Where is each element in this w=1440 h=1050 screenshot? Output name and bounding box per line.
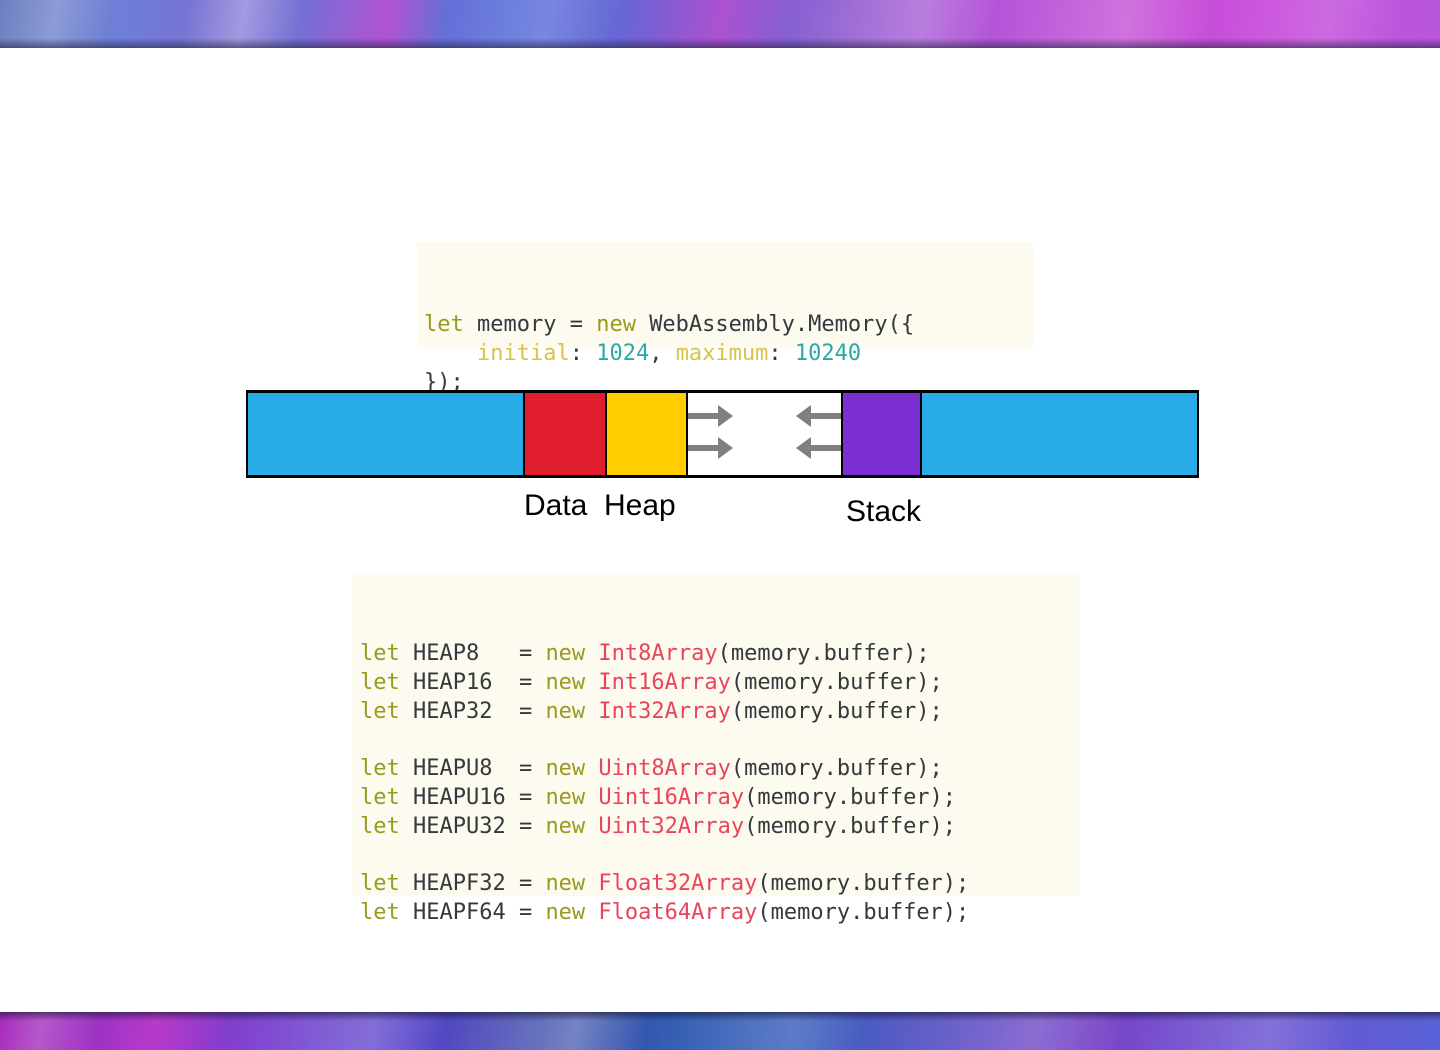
memory-segment-unused-right bbox=[922, 393, 1199, 475]
memory-segment-data bbox=[525, 393, 607, 475]
code-line: let HEAPU32 = new Uint32Array(memory.buf… bbox=[360, 813, 1080, 842]
code-token: HEAP8 = bbox=[413, 641, 545, 666]
memory-label-data: Data bbox=[524, 489, 587, 523]
code-token: initial bbox=[477, 341, 570, 366]
code-line: let HEAP8 = new Int8Array(memory.buffer)… bbox=[360, 640, 1080, 669]
code-token: 1024 bbox=[596, 341, 649, 366]
code-token: Uint16Array bbox=[598, 785, 744, 810]
code-line: let HEAPF32 = new Float32Array(memory.bu… bbox=[360, 870, 1080, 899]
code-token: let bbox=[360, 785, 413, 810]
memory-label-stack: Stack bbox=[846, 495, 921, 529]
code-token: new bbox=[545, 900, 598, 925]
code-token: (memory.buffer); bbox=[757, 900, 969, 925]
memory-segment-heap bbox=[607, 393, 688, 475]
code-token: : bbox=[768, 341, 795, 366]
code-token: (memory.buffer); bbox=[718, 641, 930, 666]
code-token: new bbox=[545, 814, 598, 839]
code-token: (memory.buffer); bbox=[744, 814, 956, 839]
code-token: new bbox=[545, 670, 598, 695]
code-token: new bbox=[545, 699, 598, 724]
memory-segment-unused-left bbox=[246, 393, 525, 475]
code-token: let bbox=[360, 814, 413, 839]
code-block-memory-declaration: let memory = new WebAssembly.Memory({ in… bbox=[417, 242, 1033, 348]
code-line bbox=[360, 727, 1080, 756]
code-token: let bbox=[424, 312, 477, 337]
code-token: memory = bbox=[477, 312, 596, 337]
code-token: let bbox=[360, 871, 413, 896]
code-token: HEAPU8 = bbox=[413, 756, 545, 781]
stack-grow-arrow-shaft-2 bbox=[807, 445, 841, 451]
code-token: maximum bbox=[676, 341, 769, 366]
stack-grow-arrow-shaft-1 bbox=[807, 413, 841, 419]
memory-segment-free-space bbox=[688, 393, 841, 475]
code-token: let bbox=[360, 900, 413, 925]
code-token: HEAPU16 = bbox=[413, 785, 545, 810]
code-token: Int8Array bbox=[598, 641, 717, 666]
code-token: (memory.buffer); bbox=[731, 670, 943, 695]
code-token: Float32Array bbox=[598, 871, 757, 896]
code-token: (memory.buffer); bbox=[731, 699, 943, 724]
heap-grow-arrow-shaft-2 bbox=[688, 445, 722, 451]
code-token: let bbox=[360, 641, 413, 666]
code-token: , bbox=[649, 341, 676, 366]
code-token: let bbox=[360, 756, 413, 781]
code-line: initial: 1024, maximum: 10240 bbox=[424, 339, 1033, 368]
memory-segment-stack bbox=[841, 393, 922, 475]
decorative-gradient-banner-bottom bbox=[0, 1012, 1440, 1050]
code-token: Int32Array bbox=[598, 699, 730, 724]
code-line: let HEAP32 = new Int32Array(memory.buffe… bbox=[360, 698, 1080, 727]
code-token: : bbox=[570, 341, 597, 366]
code-token: (memory.buffer); bbox=[731, 756, 943, 781]
code-line bbox=[360, 841, 1080, 870]
code-token: let bbox=[360, 699, 413, 724]
code-token: Uint8Array bbox=[598, 756, 730, 781]
code-token: WebAssembly.Memory({ bbox=[649, 312, 914, 337]
stack-grow-arrow-head-2 bbox=[796, 437, 811, 459]
code-token: new bbox=[545, 785, 598, 810]
code-token: HEAPF64 = bbox=[413, 900, 545, 925]
code-lines-top: let memory = new WebAssembly.Memory({ in… bbox=[424, 310, 1033, 397]
code-token: 10240 bbox=[795, 341, 861, 366]
code-line: let HEAP16 = new Int16Array(memory.buffe… bbox=[360, 669, 1080, 698]
memory-label-heap: Heap bbox=[604, 489, 676, 523]
code-line: let HEAPU16 = new Uint16Array(memory.buf… bbox=[360, 784, 1080, 813]
code-token bbox=[424, 341, 477, 366]
stack-grow-arrow-head-1 bbox=[796, 405, 811, 427]
code-token: let bbox=[360, 670, 413, 695]
code-token: HEAPU32 = bbox=[413, 814, 545, 839]
code-block-typed-array-views: let HEAP8 = new Int8Array(memory.buffer)… bbox=[352, 575, 1080, 896]
heap-grow-arrow-head-1 bbox=[718, 405, 733, 427]
code-line: let HEAPF64 = new Float64Array(memory.bu… bbox=[360, 899, 1080, 928]
code-token: Float64Array bbox=[598, 900, 757, 925]
heap-grow-arrow-head-2 bbox=[718, 437, 733, 459]
code-token: new bbox=[545, 756, 598, 781]
code-token: HEAP32 = bbox=[413, 699, 545, 724]
code-token: HEAP16 = bbox=[413, 670, 545, 695]
code-token: new bbox=[545, 641, 598, 666]
code-token: (memory.buffer); bbox=[744, 785, 956, 810]
code-line: let memory = new WebAssembly.Memory({ bbox=[424, 310, 1033, 339]
code-lines-bottom: let HEAP8 = new Int8Array(memory.buffer)… bbox=[360, 640, 1080, 927]
code-token: HEAPF32 = bbox=[413, 871, 545, 896]
heap-grow-arrow-shaft-1 bbox=[688, 413, 722, 419]
code-token: new bbox=[545, 871, 598, 896]
code-token: Int16Array bbox=[598, 670, 730, 695]
decorative-gradient-banner-top bbox=[0, 0, 1440, 48]
code-line: let HEAPU8 = new Uint8Array(memory.buffe… bbox=[360, 755, 1080, 784]
code-token: Uint32Array bbox=[598, 814, 744, 839]
code-token: (memory.buffer); bbox=[757, 871, 969, 896]
linear-memory-layout-bar bbox=[246, 390, 1199, 478]
code-token: new bbox=[596, 312, 649, 337]
